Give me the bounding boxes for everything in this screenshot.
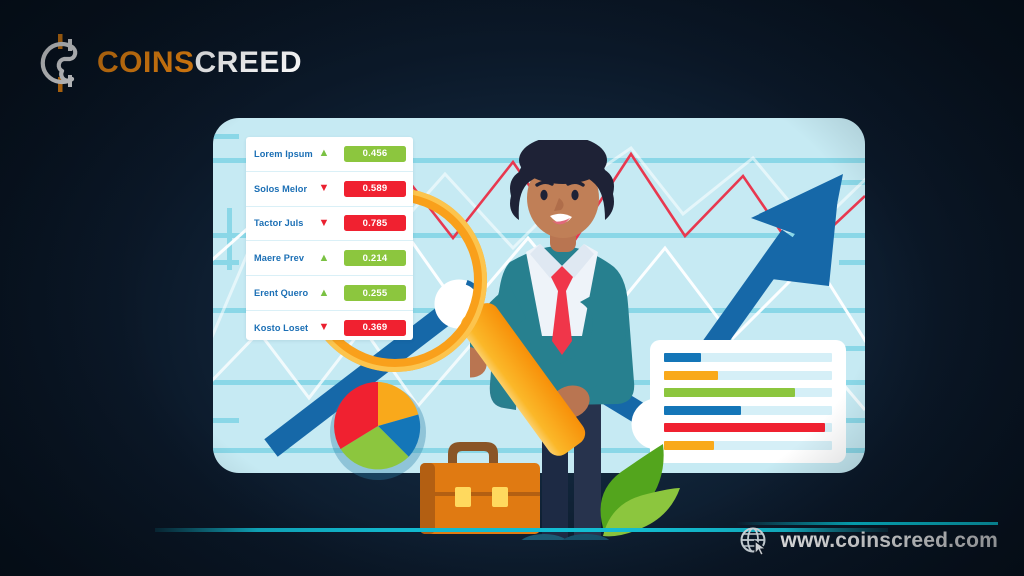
bar-fill[interactable]	[664, 388, 795, 397]
table-row-label: Lorem Ipsum	[254, 149, 316, 159]
arrow-up-icon: ▲	[316, 288, 332, 299]
table-row[interactable]: Solos Melor ▼ 0.589	[246, 172, 413, 207]
table-row-value: 0.456	[344, 146, 406, 162]
globe-cursor-icon	[739, 526, 769, 556]
table-row[interactable]: Erent Quero ▲ 0.255	[246, 276, 413, 311]
table-row[interactable]: Lorem Ipsum ▲ 0.456	[246, 137, 413, 172]
footer-url-group[interactable]: www.coinscreed.com	[739, 526, 998, 556]
arrow-up-icon: ▲	[316, 148, 332, 159]
table-row-value: 0.255	[344, 285, 406, 301]
bar-fill[interactable]	[664, 371, 718, 380]
arrow-down-icon: ▼	[316, 322, 332, 333]
table-row-value: 0.589	[344, 181, 406, 197]
logo-text-secondary: CREED	[195, 46, 303, 79]
table-row-value: 0.214	[344, 250, 406, 266]
bar-fill[interactable]	[664, 353, 701, 362]
table-row[interactable]: Tactor Juls ▼ 0.785	[246, 207, 413, 242]
logo-text-primary: COINS	[97, 46, 195, 79]
coin-dollar-icon	[38, 33, 86, 93]
table-row-value: 0.785	[344, 215, 406, 231]
footer-rule	[736, 522, 998, 525]
bar-track	[664, 388, 832, 397]
table-row-label: Kosto Loset	[254, 323, 316, 333]
poster-canvas: Lorem Ipsum ▲ 0.456 Solos Melor ▼ 0.589 …	[0, 0, 1024, 576]
table-row-label: Tactor Juls	[254, 218, 316, 228]
data-table-card: Lorem Ipsum ▲ 0.456 Solos Melor ▼ 0.589 …	[246, 137, 413, 340]
table-row-label: Maere Prev	[254, 253, 316, 263]
table-row-value: 0.369	[344, 320, 406, 336]
scene-foreground	[400, 430, 680, 540]
bar-fill[interactable]	[664, 423, 825, 432]
arrow-down-icon: ▼	[316, 218, 332, 229]
table-row-label: Solos Melor	[254, 184, 316, 194]
bar-track	[664, 406, 832, 415]
brand-wordmark: COINSCREED	[97, 48, 302, 78]
arrow-down-icon: ▼	[316, 183, 332, 194]
bar-track	[664, 371, 832, 380]
brand-logo[interactable]: COINSCREED	[38, 33, 302, 93]
table-row-label: Erent Quero	[254, 288, 316, 298]
table-row[interactable]: Kosto Loset ▼ 0.369	[246, 311, 413, 345]
bar-track	[664, 423, 832, 432]
bar-track	[664, 353, 832, 362]
footer-url[interactable]: www.coinscreed.com	[780, 529, 998, 553]
table-row[interactable]: Maere Prev ▲ 0.214	[246, 241, 413, 276]
bar-track	[664, 441, 832, 450]
bar-fill[interactable]	[664, 406, 741, 415]
arrow-up-icon: ▲	[316, 253, 332, 264]
